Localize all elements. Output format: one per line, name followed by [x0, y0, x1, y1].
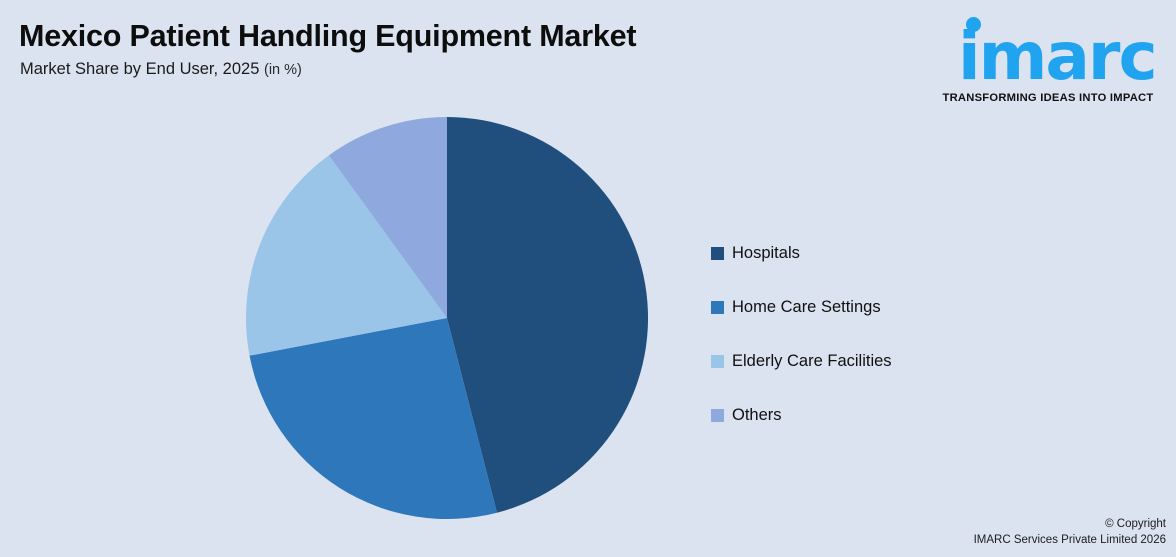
chart-legend: HospitalsHome Care SettingsElderly Care … — [711, 226, 1011, 442]
page-subtitle: Market Share by End User, 2025 (in %) — [20, 60, 302, 79]
copyright-line-2: IMARC Services Private Limited 2026 — [974, 532, 1166, 549]
legend-item[interactable]: Hospitals — [711, 226, 1011, 280]
legend-swatch-icon — [711, 409, 724, 422]
legend-item-label: Home Care Settings — [732, 298, 881, 317]
copyright-notice: © Copyright IMARC Services Private Limit… — [974, 516, 1166, 549]
chart-infographic: Mexico Patient Handling Equipment Market… — [0, 0, 1176, 557]
page-subtitle-main: Market Share by End User, 2025 — [20, 60, 259, 78]
legend-swatch-icon — [711, 355, 724, 368]
legend-item[interactable]: Others — [711, 388, 1011, 442]
page-subtitle-unit: (in %) — [264, 62, 302, 78]
legend-item[interactable]: Home Care Settings — [711, 280, 1011, 334]
imarc-tagline: TRANSFORMING IDEAS INTO IMPACT — [928, 92, 1168, 104]
legend-item-label: Others — [732, 406, 782, 425]
imarc-logo: imarc TRANSFORMING IDEAS INTO IMPACT — [922, 8, 1168, 106]
chart-area — [0, 108, 700, 528]
copyright-line-1: © Copyright — [974, 516, 1166, 533]
pie-chart — [246, 117, 648, 519]
legend-swatch-icon — [711, 247, 724, 260]
pie-slice-group — [246, 117, 648, 519]
legend-item-label: Elderly Care Facilities — [732, 352, 892, 371]
legend-swatch-icon — [711, 301, 724, 314]
legend-item[interactable]: Elderly Care Facilities — [711, 334, 1011, 388]
legend-item-label: Hospitals — [732, 244, 800, 263]
imarc-wordmark: imarc — [958, 24, 1156, 90]
header: Mexico Patient Handling Equipment Market… — [0, 0, 1176, 108]
page-title: Mexico Patient Handling Equipment Market — [19, 19, 636, 54]
